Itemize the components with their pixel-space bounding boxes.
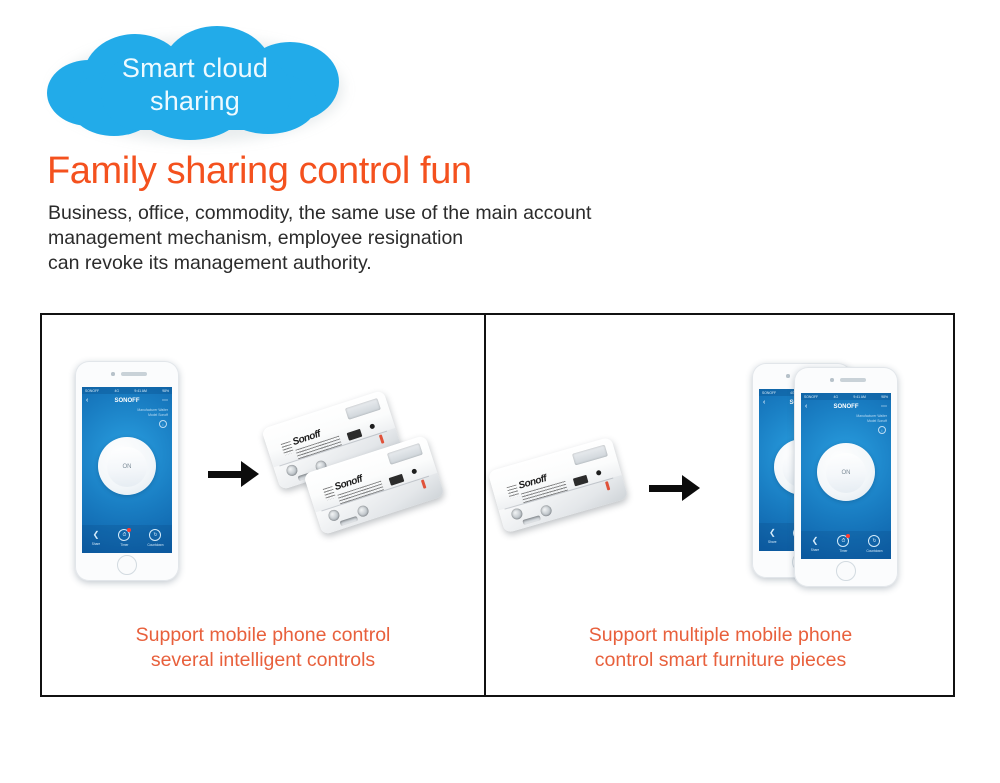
share-icon: ❮: [809, 535, 820, 546]
tab-share[interactable]: ❮ Share: [809, 535, 820, 552]
tab-timer-label: Timer: [118, 543, 130, 547]
countdown-icon: ↻: [149, 529, 161, 541]
tab-countdown[interactable]: ↻ Countdown: [147, 529, 163, 547]
status-battery: 98%: [881, 395, 888, 399]
sonoff-switch-device: Sonoff: [488, 437, 629, 534]
status-network: 4G: [834, 395, 839, 399]
phone-screen: SONOFF 4G 9:41 AM 98% ‹ SONOFF ⋯ Manufac…: [801, 393, 891, 559]
tab-share-label: Share: [809, 548, 820, 552]
device-indicator: [421, 479, 427, 488]
status-time: 9:41 AM: [853, 395, 865, 399]
device-terminal: [510, 507, 524, 521]
bottom-tabbar: ❮ Share ⏱ Timer ↻ Countdown: [801, 531, 891, 559]
phone-screen: SONOFF 4G 9:41 AM 98% ‹ SONOFF ⋯ Manufac…: [82, 387, 172, 553]
device-meta: Manufacturer Waiter Model Sonoff: [856, 414, 887, 424]
tab-share-label: Share: [90, 542, 101, 546]
status-battery: 98%: [162, 389, 169, 393]
device-terminal: [356, 504, 370, 518]
device-slot: [340, 516, 359, 526]
panel-left: SONOFF 4G 9:41 AM 98% ‹ SONOFF ⋯ Manufac…: [40, 313, 486, 697]
status-carrier: SONOFF: [85, 389, 99, 393]
more-dots-icon[interactable]: ⋯: [881, 403, 887, 410]
app-header-title: SONOFF: [115, 398, 140, 404]
status-bar: SONOFF 4G 9:41 AM 98%: [82, 387, 172, 394]
front-camera-icon: [111, 372, 115, 376]
share-icon: ❮: [90, 529, 101, 540]
tab-countdown-label: Countdown: [866, 549, 882, 553]
device-meta: Manufacturer Waiter Model Sonoff: [137, 408, 168, 418]
timer-icon: ⏱: [837, 535, 849, 547]
tab-countdown[interactable]: ↻ Countdown: [866, 535, 882, 553]
device-slot: [522, 515, 541, 525]
share-icon: ❮: [767, 527, 778, 538]
tab-timer[interactable]: ⏱ Timer: [837, 535, 849, 553]
device-meta-model: Model Sonoff: [137, 413, 168, 418]
chevron-left-icon[interactable]: ‹: [86, 397, 88, 404]
status-carrier: SONOFF: [804, 395, 818, 399]
app-header: ‹ SONOFF ⋯: [82, 395, 172, 406]
phone-mockup: SONOFF 4G 9:41 AM 98% ‹ SONOFF ⋯ Manufac…: [794, 367, 898, 587]
right-arrow-icon: [208, 461, 259, 487]
front-camera-icon: [786, 374, 790, 378]
tab-timer-label: Timer: [837, 549, 849, 553]
status-bar: SONOFF 4G 9:41 AM 98%: [801, 393, 891, 400]
bottom-tabbar: ❮ Share ⏱ Timer ↻ Countdown: [82, 525, 172, 553]
cloud-badge-line1: Smart cloud: [45, 52, 345, 85]
device-indicator: [605, 481, 610, 490]
app-header: ‹ SONOFF ⋯: [801, 401, 891, 412]
device-indicator: [379, 434, 385, 443]
cloud-badge-line2: sharing: [45, 85, 345, 118]
right-arrow-icon: [649, 475, 700, 501]
cloud-badge-text: Smart cloud sharing: [45, 52, 345, 118]
info-icon[interactable]: i: [159, 420, 167, 428]
page-description: Business, office, commodity, the same us…: [48, 201, 591, 276]
device-body: Sonoff: [488, 437, 629, 534]
earpiece-speaker: [840, 378, 866, 382]
app-header-title: SONOFF: [834, 404, 859, 410]
front-camera-icon: [830, 378, 834, 382]
tab-share[interactable]: ❮ Share: [767, 527, 778, 544]
tab-timer-badge: [846, 534, 850, 538]
tab-timer[interactable]: ⏱ Timer: [118, 529, 130, 547]
home-button[interactable]: [117, 555, 137, 575]
timer-icon: ⏱: [118, 529, 130, 541]
status-network: 4G: [115, 389, 120, 393]
cloud-badge: Smart cloud sharing: [45, 26, 345, 144]
countdown-icon: ↻: [868, 535, 880, 547]
earpiece-speaker: [121, 372, 147, 376]
tab-share-label: Share: [767, 540, 778, 544]
device-terminal: [285, 463, 299, 477]
power-toggle-label: ON: [826, 453, 866, 493]
panel-right-caption: Support multiple mobile phone control sm…: [486, 623, 955, 673]
device-meta-model: Model Sonoff: [856, 419, 887, 424]
chevron-left-icon[interactable]: ‹: [763, 399, 765, 406]
power-toggle[interactable]: ON: [98, 437, 156, 495]
device-terminal: [327, 508, 341, 522]
status-carrier: SONOFF: [762, 391, 776, 395]
info-icon[interactable]: i: [878, 426, 886, 434]
tab-share[interactable]: ❮ Share: [90, 529, 101, 546]
tab-timer-badge: [127, 528, 131, 532]
page-title: Family sharing control fun: [47, 150, 472, 193]
panel-left-caption: Support mobile phone control several int…: [40, 623, 486, 673]
power-toggle-label: ON: [107, 447, 147, 487]
home-button[interactable]: [836, 561, 856, 581]
chevron-left-icon[interactable]: ‹: [805, 403, 807, 410]
status-time: 9:41 AM: [134, 389, 146, 393]
panel-right: Sonoff SONOFF 4G 9:41 AM 98%: [486, 313, 955, 697]
tab-countdown-label: Countdown: [147, 543, 163, 547]
phone-mockup: SONOFF 4G 9:41 AM 98% ‹ SONOFF ⋯ Manufac…: [75, 361, 179, 581]
device-terminal: [539, 504, 553, 518]
more-dots-icon[interactable]: ⋯: [162, 397, 168, 404]
power-toggle[interactable]: ON: [817, 443, 875, 501]
